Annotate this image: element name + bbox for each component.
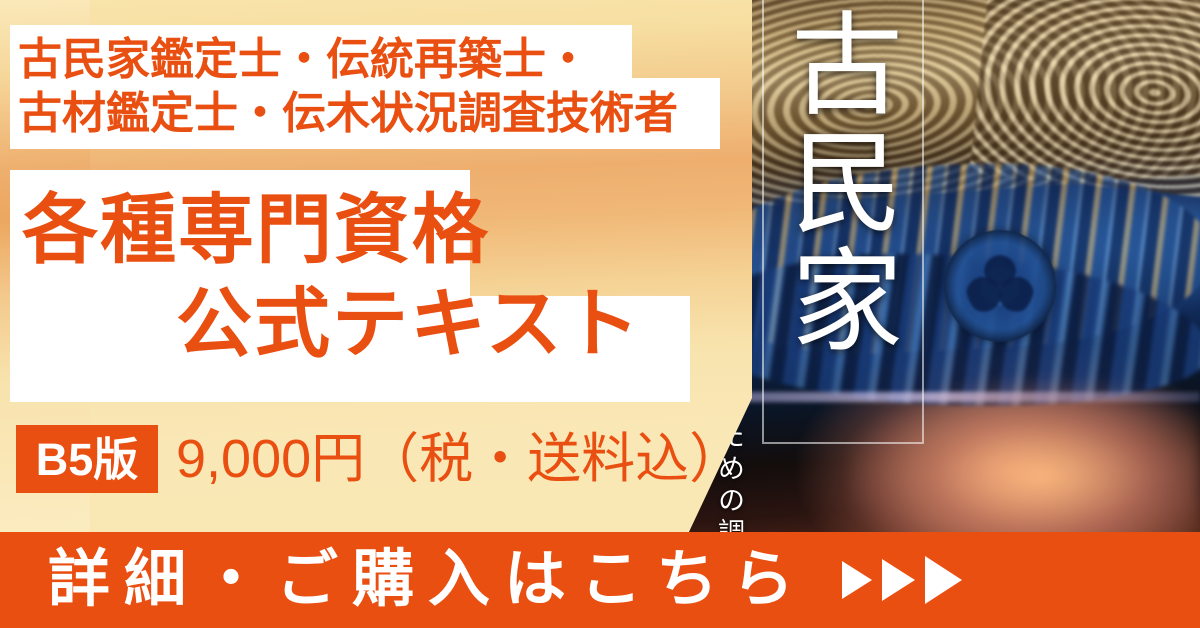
play-triangle-icon — [882, 559, 915, 601]
title-line-2: 公式テキスト — [176, 278, 642, 372]
size-badge-label: B5版 — [36, 437, 139, 482]
cta-label[interactable]: 詳細・ご購入はこちら — [48, 549, 808, 611]
cta-arrow-group[interactable] — [842, 556, 962, 604]
promo-banner: 古民家 伝統構法 古民家活用のための調査と再生の 古民家鑑定士・伝統再築士・ 古… — [0, 0, 1200, 628]
title-line-1: 各種専門資格 — [22, 184, 490, 278]
play-triangle-icon — [925, 556, 962, 604]
book-cover-main-title: 古民家 — [780, 6, 904, 360]
qualifications-headline: 古民家鑑定士・伝統再築士・ 古材鑑定士・伝木状況調査技術者 — [18, 33, 718, 141]
play-triangle-icon — [842, 561, 872, 599]
cta-bar[interactable]: 詳細・ご購入はこちら — [0, 532, 1200, 628]
family-crest-medallion — [944, 230, 1056, 342]
price-label: 9,000円（税・送料込） — [176, 424, 743, 494]
size-badge: B5版 — [16, 425, 158, 493]
